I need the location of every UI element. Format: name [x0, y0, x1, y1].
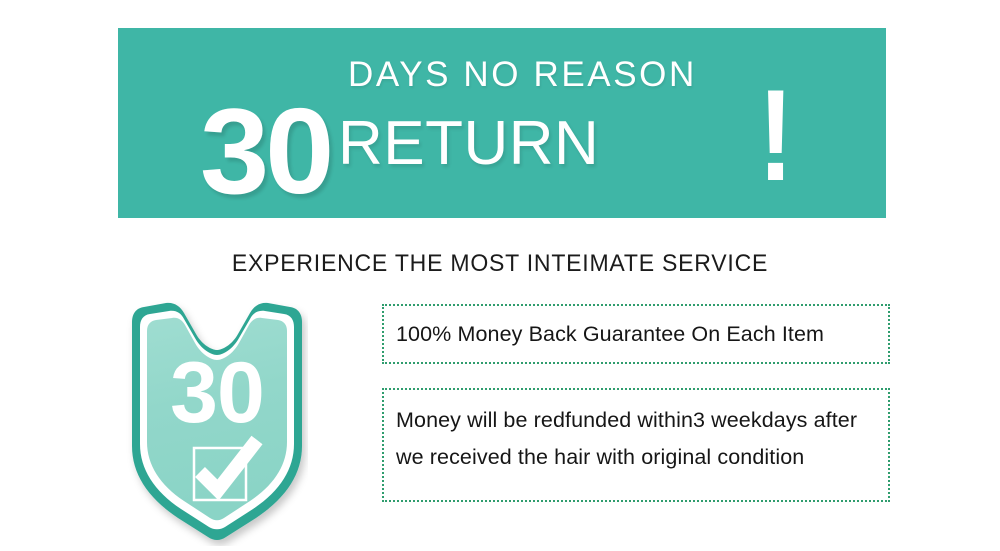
shield-number-label: 30	[170, 345, 264, 441]
promise-box-money-back-guarantee: 100% Money Back Guarantee On Each Item	[382, 304, 890, 364]
page-subtitle: EXPERIENCE THE MOST INTEIMATE SERVICE	[20, 250, 980, 278]
return-policy-banner: 30 DAYS NO REASON RETURN !	[118, 28, 886, 218]
promise-text: Money will be redfunded within3 weekdays…	[396, 402, 880, 476]
banner-headline-return: RETURN	[338, 113, 599, 175]
banner-days-number: 30	[200, 90, 330, 212]
shield-badge: 30	[126, 296, 308, 546]
banner-headline-days-no-reason: DAYS NO REASON	[348, 55, 697, 95]
promise-box-refund-policy: Money will be redfunded within3 weekdays…	[382, 388, 890, 502]
shield-30-days-checkmark-icon: 30	[126, 296, 308, 546]
exclamation-mark-icon: !	[758, 70, 794, 200]
promise-text: 100% Money Back Guarantee On Each Item	[396, 322, 824, 347]
